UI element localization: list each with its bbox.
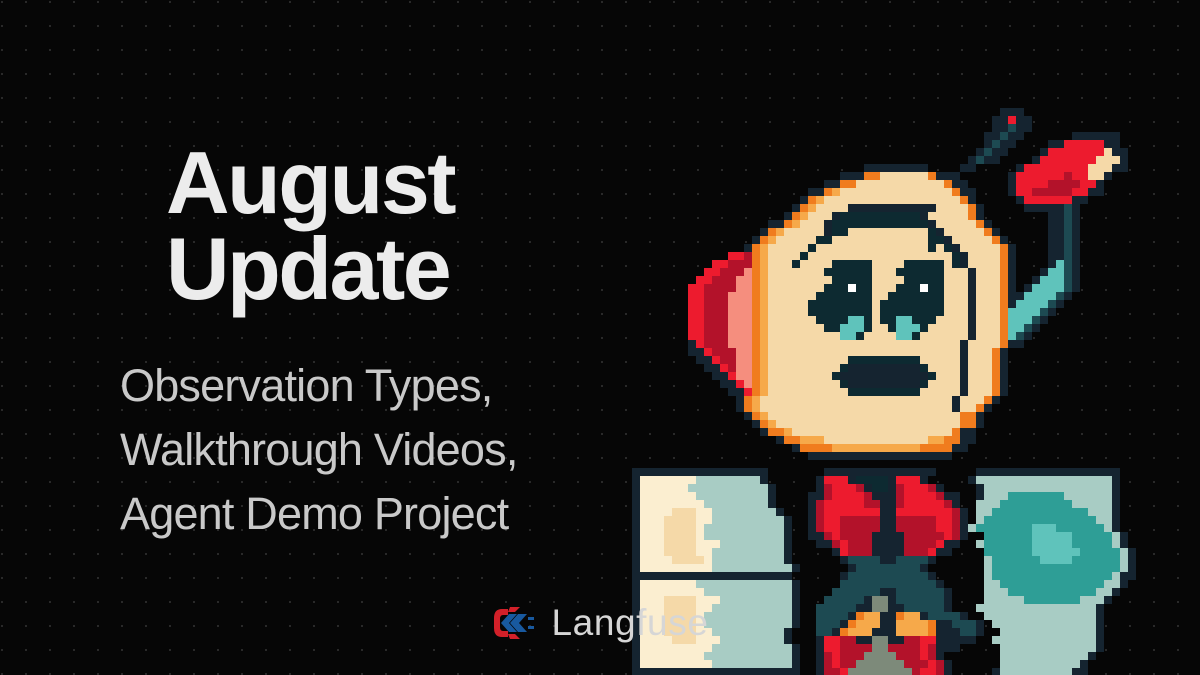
brand-lockup: Langfuse xyxy=(0,604,1200,641)
logo-blue-shape xyxy=(501,614,534,632)
pixel-robot-mascot xyxy=(632,108,1160,516)
page-title: August Update xyxy=(166,140,666,312)
page-subtitle: Observation Types, Walkthrough Videos, A… xyxy=(120,354,666,546)
brand-name: Langfuse xyxy=(551,604,708,641)
august-update-banner: August Update Observation Types, Walkthr… xyxy=(0,0,1200,675)
text-block: August Update Observation Types, Walkthr… xyxy=(166,140,666,546)
langfuse-logo-icon xyxy=(491,606,535,640)
